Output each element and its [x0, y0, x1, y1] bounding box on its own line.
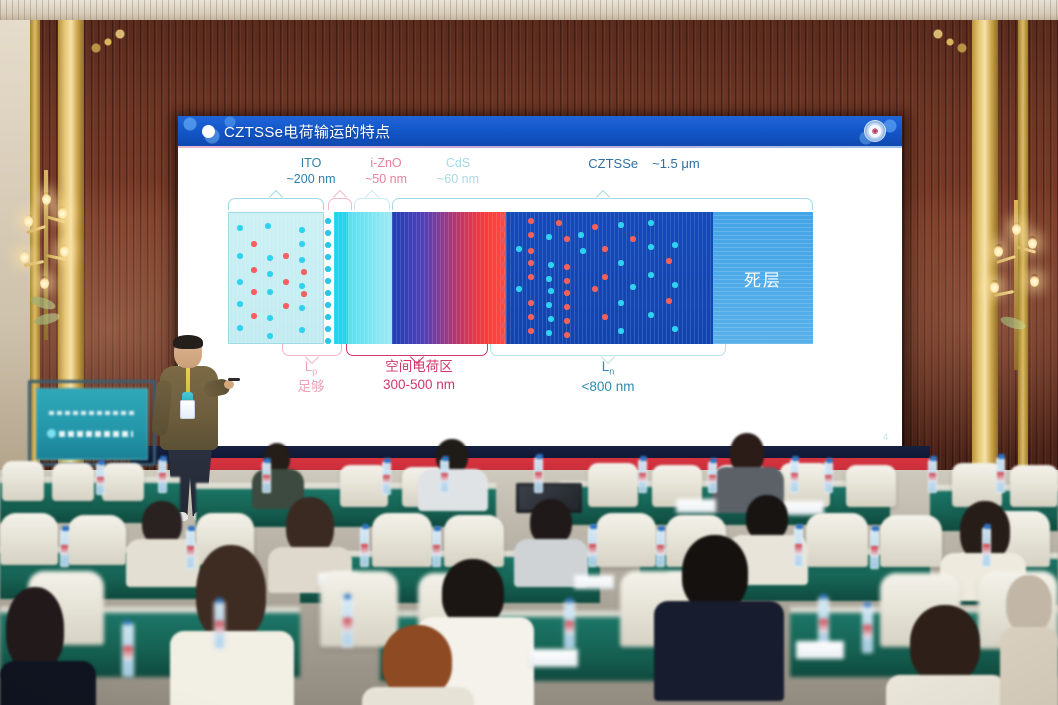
water-bottle	[708, 461, 717, 493]
name-card	[574, 575, 614, 589]
projection-screen: CZTSSe电荷输运的特点 ◉ ITO ~200 nm i-ZnO ~50 nm	[178, 116, 902, 448]
bracket-cztsse	[392, 198, 813, 210]
water-bottle	[360, 527, 369, 567]
layer-ito	[228, 212, 324, 344]
bracket-cds	[354, 198, 390, 210]
bracket-ito	[228, 198, 324, 210]
chair	[2, 461, 44, 501]
label-space-charge-value: 300-500 nm	[354, 376, 484, 394]
label-izno-name: i-ZnO	[346, 156, 426, 172]
chair	[68, 515, 126, 565]
label-space-charge: 空间电荷区 300-500 nm	[354, 358, 484, 393]
bracket-lp	[282, 344, 342, 356]
water-bottle	[342, 597, 353, 647]
water-bottle	[262, 461, 271, 493]
device-stack-diagram: ITO ~200 nm i-ZnO ~50 nm CdS ~60 nm CZTS…	[178, 146, 902, 448]
water-bottle	[862, 605, 873, 653]
layer-gap	[325, 212, 334, 344]
chair	[880, 515, 942, 567]
audience-person	[250, 443, 306, 505]
water-bottle	[824, 461, 833, 493]
water-bottle	[928, 459, 937, 493]
name-card	[676, 499, 716, 513]
chair	[52, 463, 94, 501]
water-bottle	[534, 457, 543, 493]
corner-ornament-right	[926, 24, 972, 58]
slide-title-bar: CZTSSe电荷输运的特点 ◉	[178, 116, 902, 146]
water-bottle	[158, 459, 167, 493]
label-ln-symbol: Ln	[518, 358, 698, 378]
audience-person	[170, 545, 294, 705]
layer-cztsse	[506, 212, 713, 344]
bracket-ln	[490, 344, 726, 356]
chair	[806, 513, 868, 567]
label-cztsse: CZTSSe ~1.5 μm	[554, 156, 734, 172]
audience-person	[418, 439, 488, 509]
layer-space-charge-region	[392, 212, 506, 344]
water-bottle	[564, 601, 575, 649]
label-ito-name: ITO	[268, 156, 354, 172]
layer-cds	[348, 212, 392, 344]
wall-sconce-right	[988, 200, 1044, 390]
audience-person	[1000, 575, 1058, 705]
water-bottle	[638, 459, 647, 493]
slide-title: CZTSSe电荷输运的特点	[224, 121, 390, 142]
layer-dead: 死层	[713, 212, 813, 344]
label-ln: Ln <800 nm	[518, 358, 698, 396]
label-izno: i-ZnO ~50 nm	[346, 156, 426, 187]
interface-charge-column-left	[325, 212, 332, 344]
audience-person	[886, 605, 1006, 705]
label-ito-value: ~200 nm	[268, 172, 354, 188]
water-bottle	[122, 623, 134, 677]
slide-page-number: 4	[883, 432, 888, 442]
audience-area	[0, 455, 1058, 705]
wall-sconce-left	[18, 170, 74, 360]
label-cztsse-value: ~1.5 μm	[652, 156, 700, 172]
water-bottle	[794, 527, 803, 567]
label-cds: CdS ~60 nm	[418, 156, 498, 187]
water-bottle	[440, 459, 449, 493]
audience-person	[0, 587, 96, 705]
layer-izno	[334, 212, 348, 344]
name-card	[796, 641, 844, 659]
label-izno-value: ~50 nm	[346, 172, 426, 188]
corner-ornament-left	[86, 24, 132, 58]
chair	[588, 463, 638, 507]
label-ln-value: <800 nm	[518, 378, 698, 396]
conference-room-scene: CZTSSe电荷输运的特点 ◉ ITO ~200 nm i-ZnO ~50 nm	[0, 0, 1058, 705]
audience-person	[654, 535, 784, 705]
laser-pointer	[228, 378, 240, 381]
water-bottle	[982, 527, 991, 567]
label-lp: Lp 足够	[278, 358, 344, 396]
label-cds-value: ~60 nm	[418, 172, 498, 188]
name-badge	[180, 400, 195, 419]
ceiling	[0, 0, 1058, 22]
chair	[596, 513, 656, 567]
label-cds-name: CdS	[418, 156, 498, 172]
label-ito: ITO ~200 nm	[268, 156, 354, 187]
water-bottle	[96, 463, 105, 495]
water-bottle	[60, 529, 69, 567]
name-card	[530, 649, 578, 667]
label-lp-value: 足够	[278, 378, 344, 396]
circle-bullet-icon	[202, 125, 215, 138]
layer-labels-top: ITO ~200 nm i-ZnO ~50 nm CdS ~60 nm CZTS…	[178, 156, 902, 202]
dead-layer-label: 死层	[744, 266, 782, 291]
chair	[846, 465, 896, 507]
label-cztsse-name: CZTSSe	[588, 156, 638, 172]
audience-person	[362, 625, 474, 705]
conference-banner	[36, 388, 148, 460]
bracket-scr	[346, 344, 488, 356]
label-space-charge-name: 空间电荷区	[354, 358, 484, 376]
presentation-slide: CZTSSe电荷输运的特点 ◉ ITO ~200 nm i-ZnO ~50 nm	[178, 116, 902, 448]
water-bottle	[790, 459, 799, 493]
water-bottle	[588, 527, 597, 567]
chair	[102, 463, 144, 501]
water-bottle	[382, 461, 391, 495]
water-bottle	[214, 601, 225, 649]
chair	[0, 513, 58, 565]
university-emblem-icon: ◉	[864, 120, 886, 142]
water-bottle	[870, 529, 879, 569]
label-lp-symbol: Lp	[278, 358, 344, 378]
water-bottle	[996, 457, 1005, 493]
bracket-izno	[328, 198, 352, 210]
